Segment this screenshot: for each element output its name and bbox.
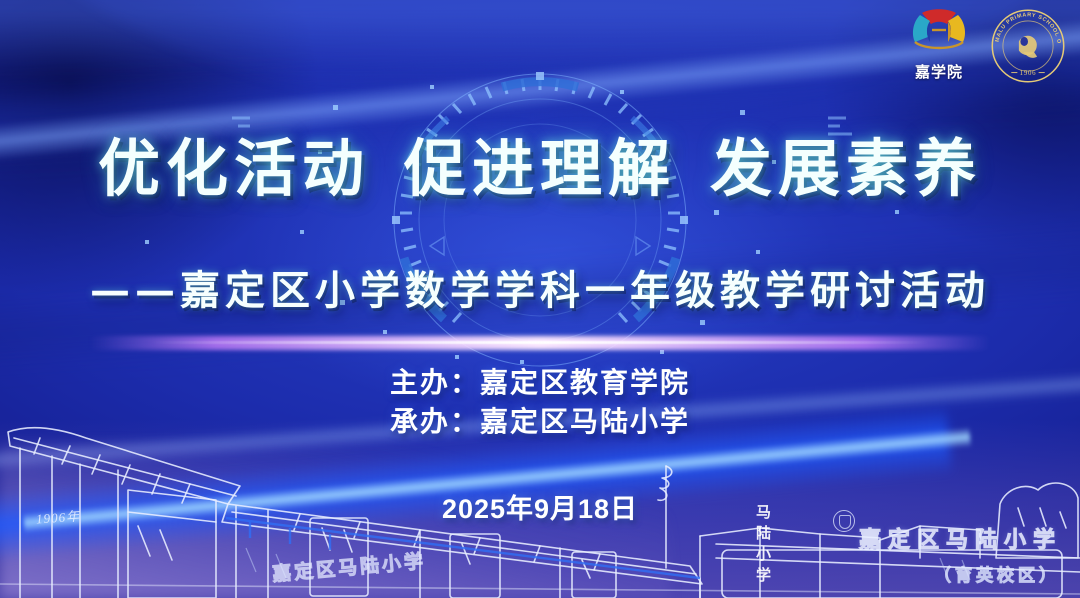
magenta-light-bar-core — [150, 341, 930, 344]
organizer-block: 主办：嘉定区教育学院 承办：嘉定区马陆小学 — [0, 364, 1080, 441]
title-phrase-3: 发展素养 — [710, 132, 982, 205]
building-vertical-label: 马陆小学 — [752, 504, 773, 588]
logo-group: 嘉学院 MALU PRIMARY SCHOOL OF JIADING DISTR… — [906, 8, 1066, 84]
poster-subtitle: ——嘉定区小学数学学科一年级教学研讨活动 — [0, 258, 1080, 316]
event-date: 2025年9月18日 — [0, 487, 1080, 526]
title-phrase-2: 促进理解 — [404, 132, 676, 205]
jiaxueyuan-mark-icon — [906, 8, 972, 54]
organizer-host: 主办：嘉定区教育学院 — [0, 364, 1080, 403]
institute-logo-name: 嘉学院 — [906, 61, 972, 82]
seal-year: 1906 — [1020, 70, 1037, 77]
title-phrase-1: 优化活动 — [98, 132, 370, 205]
tech-ring-decoration — [390, 70, 690, 370]
building-right-caption: 嘉定区马陆小学 — [859, 522, 1062, 554]
institute-logo: 嘉学院 — [906, 8, 972, 82]
building-year-label: 1906年 — [35, 505, 80, 527]
organizer-co: 承办：嘉定区马陆小学 — [0, 403, 1080, 442]
building-right-caption-sub: （育英校区） — [934, 561, 1060, 586]
poster-title: 优化活动促进理解发展素养 — [0, 118, 1080, 208]
school-seal-icon: MALU PRIMARY SCHOOL OF JIADING DISTRICT … — [990, 8, 1066, 84]
poster-canvas: 1906年 嘉定区马陆小学 马陆小学 嘉定区马陆小学 （育英校区） 嘉学院 — [0, 0, 1080, 598]
school-crest-icon — [833, 510, 855, 532]
